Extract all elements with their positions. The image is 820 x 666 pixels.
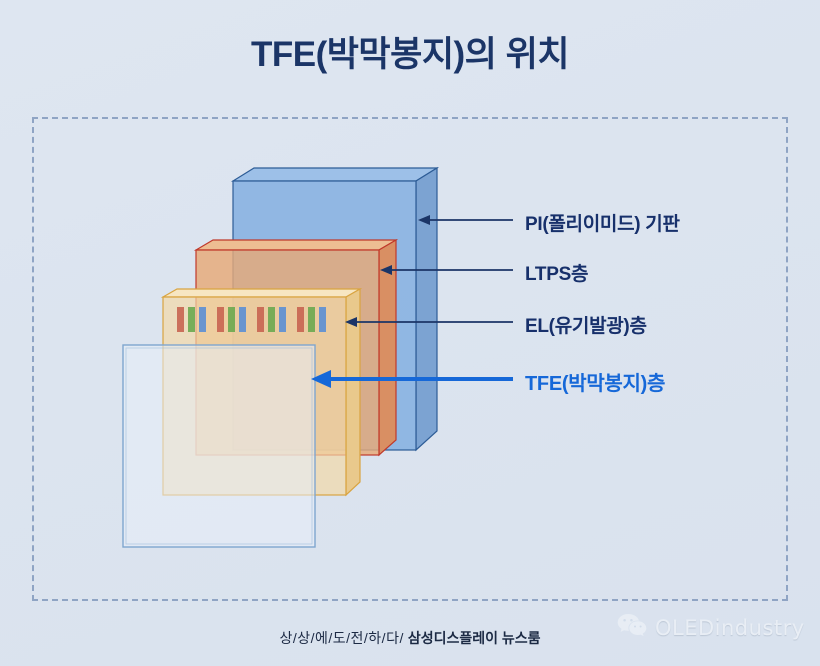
watermark: OLEDindustry: [617, 612, 805, 643]
footer-slogan: 상/상/에/도/전/하/다/: [279, 630, 403, 646]
label-tfe: TFE(박막봉지)층: [525, 367, 665, 396]
label-el: EL(유기발광)층: [525, 311, 647, 338]
layer-stack-diagram: [0, 0, 820, 666]
footer-brand: 삼성디스플레이 뉴스룸: [408, 630, 541, 646]
wechat-icon: [617, 612, 647, 643]
layer-tfe[interactable]: [123, 345, 315, 547]
watermark-text: OLEDindustry: [655, 616, 805, 640]
label-ltps: LTPS층: [525, 259, 588, 286]
label-pi: PI(폴리이미드) 기판: [525, 209, 680, 236]
